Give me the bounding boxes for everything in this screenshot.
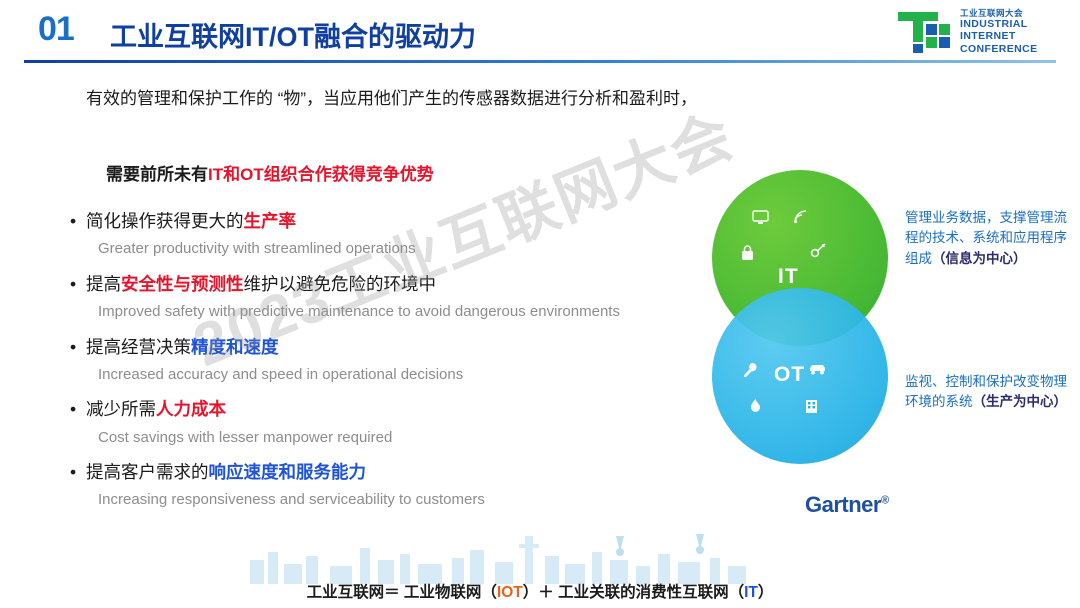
footer-it: IT — [744, 584, 758, 601]
logo-line-1: INDUSTRIAL — [960, 18, 1038, 30]
city-skyline-decoration — [0, 530, 1080, 584]
registered-mark-icon: ® — [881, 495, 889, 507]
bullet-cn-4: •减少所需人力成本 — [70, 396, 710, 422]
lock-icon — [740, 244, 755, 265]
it-ot-venn-diagram: IT OT — [700, 170, 900, 470]
list-item: •提高客户需求的响应速度和服务能力 Increasing responsiven… — [70, 459, 710, 512]
footer-part-2: ）＋ 工业关联的消费性互联网（ — [523, 584, 744, 601]
bullet-dot-icon: • — [70, 459, 86, 485]
bullet-4-before: 减少所需 — [86, 399, 156, 419]
it-caption: 管理业务数据，支撑管理流程的技术、系统和应用程序组成（信息为中心） — [905, 208, 1070, 269]
it-label: IT — [778, 265, 799, 289]
emphasis-prefix: 需要前所未有 — [106, 165, 208, 184]
monitor-icon — [752, 210, 769, 229]
slide-header: 01 工业互联网IT/OT融合的驱动力 工业互联网大会 INDUSTRIAL I… — [0, 0, 1080, 66]
intro-paragraph: 有效的管理和保护工作的 “物”，当应用他们产生的传感器数据进行分析和盈利时， — [86, 86, 746, 112]
fire-icon — [748, 398, 763, 419]
conference-logo: 工业互联网大会 INDUSTRIAL INTERNET CONFERENCE — [896, 8, 1056, 58]
source-name: Gartner — [805, 492, 881, 517]
bullet-en-4: Cost savings with lesser manpower requir… — [98, 427, 710, 450]
t-logo-icon — [896, 10, 954, 56]
footer-iot: IOT — [497, 584, 523, 601]
bullet-cn-5: •提高客户需求的响应速度和服务能力 — [70, 459, 710, 485]
bullet-1-highlight: 生产率 — [244, 211, 297, 231]
list-item: •减少所需人力成本 Cost savings with lesser manpo… — [70, 396, 710, 449]
emphasis-line: 需要前所未有IT和OT组织合作获得竞争优势 — [106, 160, 434, 185]
logo-line-3: CONFERENCE — [960, 43, 1038, 55]
logo-line-2: INTERNET — [960, 30, 1038, 42]
car-icon — [808, 362, 827, 380]
source-attribution: Gartner® — [805, 492, 889, 518]
bullet-cn-3: •提高经营决策精度和速度 — [70, 334, 710, 360]
factory-icon — [804, 398, 819, 419]
bullet-dot-icon: • — [70, 271, 86, 297]
bullet-5-highlight: 响应速度和服务能力 — [209, 462, 367, 482]
header-divider — [24, 60, 1056, 63]
logo-cn-text: 工业互联网大会 — [960, 8, 1038, 18]
list-item: •提高经营决策精度和速度 Increased accuracy and spee… — [70, 334, 710, 387]
bullet-2-before: 提高 — [86, 274, 121, 294]
bullet-1-before: 简化操作获得更大的 — [86, 211, 244, 231]
bullet-dot-icon: • — [70, 208, 86, 234]
wrench-icon — [742, 362, 759, 383]
wifi-icon — [792, 208, 809, 229]
footer-equation: 工业互联网＝ 工业物联网（IOT）＋ 工业关联的消费性互联网（IT） — [0, 580, 1080, 602]
bullet-dot-icon: • — [70, 334, 86, 360]
ot-caption: 监视、控制和保护改变物理环境的系统（生产为中心） — [905, 372, 1070, 413]
ot-caption-bold: （生产为中心） — [973, 394, 1068, 409]
footer-part-1: 工业互联网＝ 工业物联网（ — [307, 584, 497, 601]
key-icon — [810, 242, 827, 263]
bullet-3-before: 提高经营决策 — [86, 337, 191, 357]
ot-label: OT — [774, 363, 805, 387]
footer-part-3: ） — [758, 584, 774, 601]
it-caption-bold: （信息为中心） — [932, 251, 1027, 266]
emphasis-highlight: IT和OT组织合作获得竞争优势 — [208, 165, 434, 184]
page-title: 工业互联网IT/OT融合的驱动力 — [110, 15, 476, 54]
bullet-en-5: Increasing responsiveness and serviceabi… — [98, 489, 710, 512]
bullet-5-before: 提高客户需求的 — [86, 462, 209, 482]
bullet-dot-icon: • — [70, 396, 86, 422]
bullet-4-highlight: 人力成本 — [156, 399, 226, 419]
bullet-en-3: Increased accuracy and speed in operatio… — [98, 364, 710, 387]
footer-band: 工业互联网＝ 工业物联网（IOT）＋ 工业关联的消费性互联网（IT） — [0, 530, 1080, 608]
header-number: 01 — [38, 10, 74, 49]
